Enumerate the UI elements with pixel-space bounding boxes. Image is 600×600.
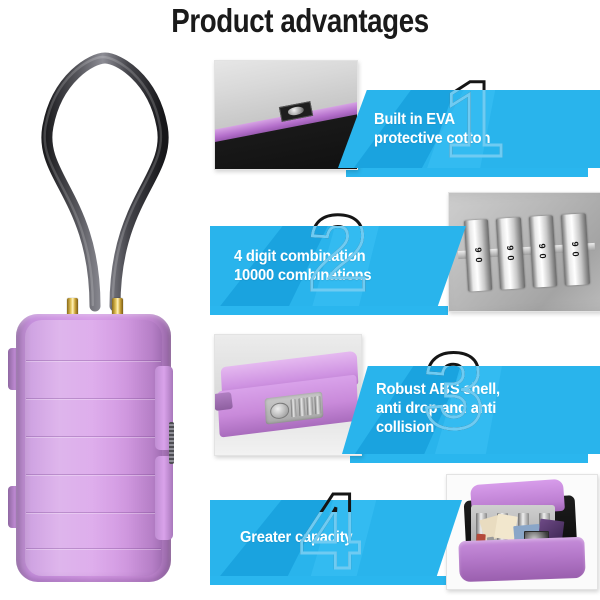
hero-product-image [8,48,208,588]
product-advantages-infographic: Product advantages [0,0,600,600]
feature-2-text: 4 digit combination 10000 combinations [234,247,371,285]
photo-open-case-contents [446,474,598,590]
banner-3-shadow [350,454,588,463]
combination-dial-1: 9 0 [464,219,493,291]
photo-four-combination-dials: 9 0 9 0 9 0 9 0 [448,192,600,312]
feature-row-1: Built in EVA protective cotton 1 1 [210,58,600,180]
feature-row-3: Robust ABS shell, anti drop and anti col… [210,328,600,468]
feature-banner-2: 4 digit combination 10000 combinations [210,226,466,306]
combination-dial-4: 9 0 [561,213,590,285]
feature-1-text: Built in EVA protective cotton [374,110,490,148]
case-dial-strip [169,422,174,464]
feature-3-text: Robust ABS shell, anti drop and anti col… [376,380,500,437]
feature-banner-4: Greater capacity [210,500,462,576]
feature-banner-1: Built in EVA protective cotton [338,90,600,168]
combination-dial-2: 9 0 [496,217,525,289]
combination-dial-3: 9 0 [528,215,557,287]
banner-2-shadow [210,306,448,315]
feature-row-2: 4 digit combination 10000 combinations 9… [210,188,600,318]
lock-cable [30,48,180,316]
combination-dials: 9 0 9 0 9 0 9 0 [464,213,590,291]
case-latch-lower [155,456,173,540]
feature-banner-3: Robust ABS shell, anti drop and anti col… [342,366,600,454]
feature-row-4: Greater capacity [210,472,600,592]
feature-4-text: Greater capacity [240,528,352,547]
banner-1-shadow [346,168,588,177]
banner-4-shadow [210,576,448,585]
page-title: Product advantages [48,2,552,40]
brand-logo-icon [269,401,289,419]
case-body [16,314,171,582]
photo-eva-cotton-edge [214,60,358,170]
photo-abs-shell-case [214,334,362,456]
